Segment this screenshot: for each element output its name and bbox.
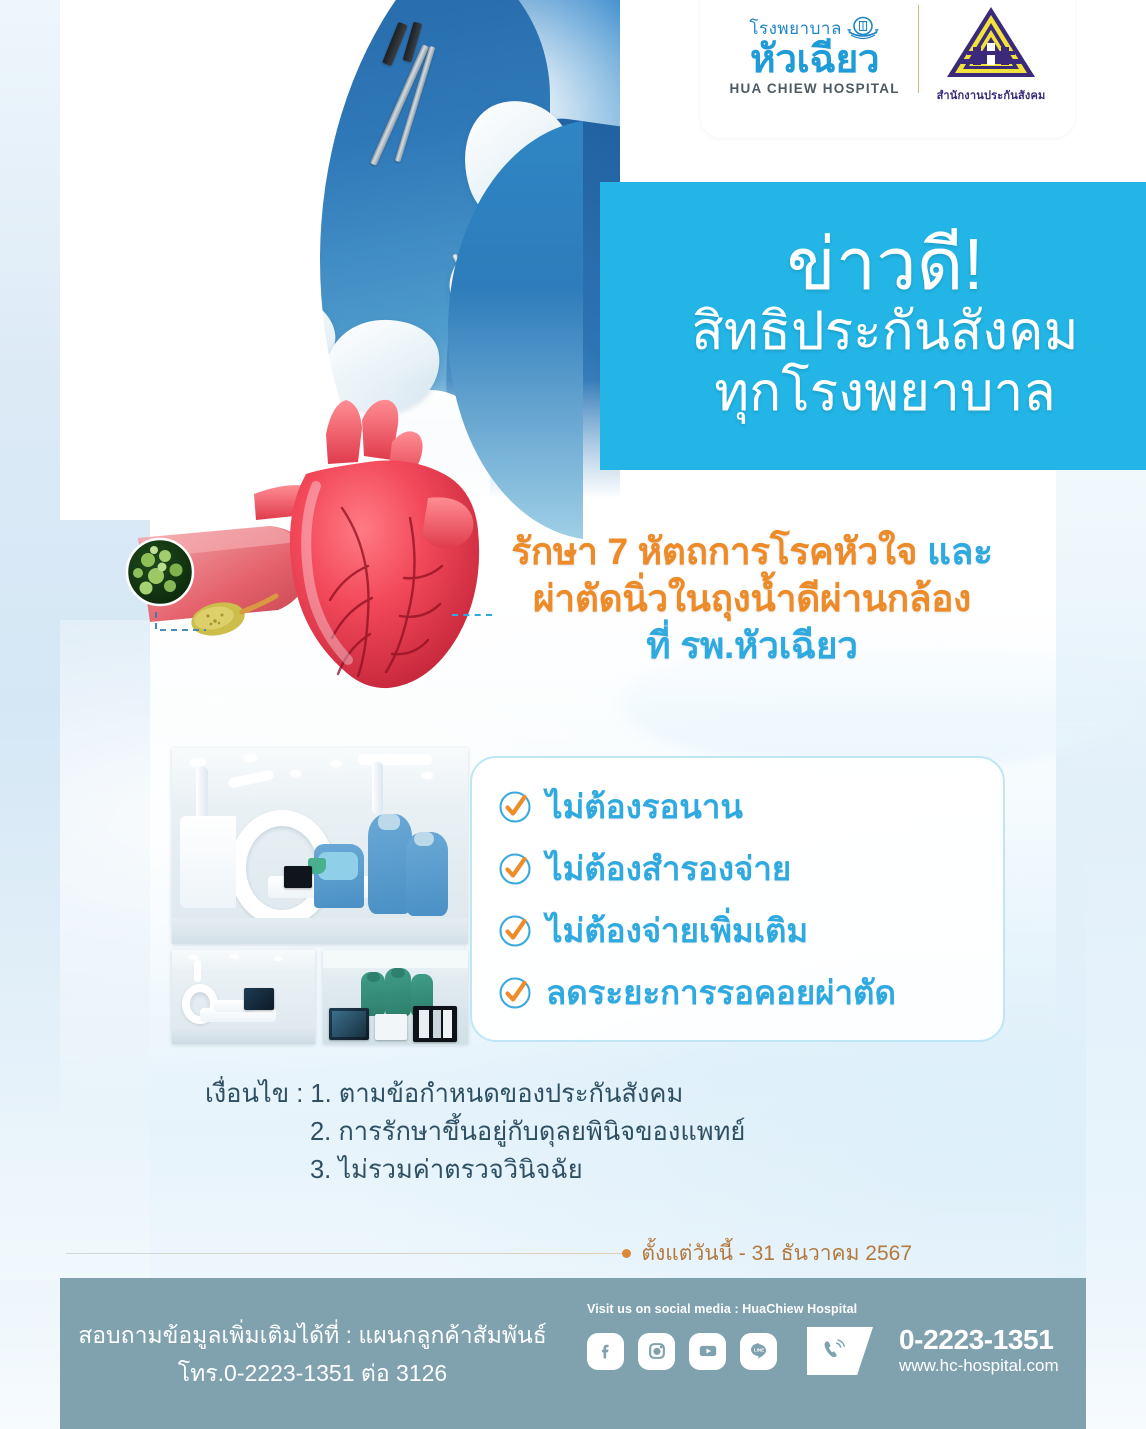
subhead-line1-orange: รักษา 7 หัตถการโรคหัวใจ [511,531,917,572]
sso-logo: สำนักงานประกันสังคม [937,0,1046,104]
hospital-logo: โรงพยาบาล หัวเฉียว HUA CHIEW HOSPITAL [730,3,900,96]
check-circle-icon [498,976,532,1010]
condition-line-2: 2. การรักษาขึ้นอยู่กับดุลยพินิจของแพทย์ [205,1113,965,1151]
headline-line-3: ทุกโรงพยาบาล [624,362,1146,424]
subhead-line3: ที่ รพ.หัวเฉียว [452,622,1052,669]
angiography-suite-photo [172,950,315,1044]
promo-period-row: ตั้งแต่วันนี้ - 31 ธันวาคม 2567 [66,1236,1080,1270]
social-security-office-logo [943,3,1039,83]
cath-lab-procedure-photo [172,748,468,944]
line-icon[interactable]: LINE [740,1333,777,1370]
promotional-poster: ข่าวดี! สิทธิประกันสังคม ทุกโรงพยาบาล โร… [0,0,1146,1429]
anatomical-illustration [110,390,510,740]
condition-line-3: 3. ไม่รวมค่าตรวจวินิจฉัย [205,1151,965,1189]
sso-label: สำนักงานประกันสังคม [937,86,1046,104]
benefit-label: ไม่ต้องสำรองจ่าย [546,851,791,887]
instagram-icon[interactable] [638,1333,675,1370]
benefit-label: ลดระยะการรอคอยผ่าตัด [546,975,896,1011]
benefits-card: ไม่ต้องรอนาน ไม่ต้องสำรองจ่าย ไม่ต้องจ่า… [470,756,1005,1042]
benefit-label: ไม่ต้องจ่ายเพิ่มเติม [546,913,808,949]
footer-contact-line-2: โทร.0-2223-1351 ต่อ 3126 [60,1354,565,1392]
benefit-item: ไม่ต้องรอนาน [498,776,1003,838]
benefit-item: ไม่ต้องสำรองจ่าย [498,838,1003,900]
social-caption: Visit us on social media : HuaChiew Hosp… [587,1302,1086,1316]
logo-divider [918,5,919,93]
subhead-line1-blue: และ [927,531,993,572]
youtube-icon[interactable] [689,1333,726,1370]
check-circle-icon [498,852,532,886]
promo-period-rule [66,1253,622,1254]
footer-bar: สอบถามข้อมูลเพิ่มเติมได้ที่ : แผนกลูกค้า… [60,1278,1086,1429]
headline-line-2: สิทธิประกันสังคม [624,302,1146,362]
check-circle-icon [498,914,532,948]
condition-line-1: เงื่อนไข : 1. ตามข้อกำหนดของประกันสังคม [205,1075,965,1113]
promo-period-dot [622,1249,631,1258]
headline-line-1: ข่าวดี! [624,228,1146,302]
phone-call-icon[interactable] [807,1327,873,1375]
benefit-item: ไม่ต้องจ่ายเพิ่มเติม [498,900,1003,962]
headline-group: ข่าวดี! สิทธิประกันสังคม ทุกโรงพยาบาล [600,182,1146,470]
phone-number[interactable]: 0-2223-1351 [899,1325,1059,1355]
hospital-name-english: HUA CHIEW HOSPITAL [730,81,900,96]
footer-contact-line-1: สอบถามข้อมูลเพิ่มเติมได้ที่ : แผนกลูกค้า… [60,1316,565,1354]
hospital-name-main: หัวเฉียว [750,40,879,80]
social-row: LINE 0-2223-1351 www.hc-hospital.com [587,1325,1086,1377]
check-circle-icon [498,790,532,824]
photo-collage [172,748,468,1044]
operating-room-team-photo [323,950,468,1044]
benefit-item: ลดระยะการรอคอยผ่าตัด [498,962,1003,1024]
footer-social-block: Visit us on social media : HuaChiew Hosp… [565,1278,1086,1377]
subheading-group: รักษา 7 หัตถการโรคหัวใจ และ ผ่าตัดนิ่วใน… [452,528,1052,669]
facebook-icon[interactable] [587,1333,624,1370]
promo-period-text: ตั้งแต่วันนี้ - 31 ธันวาคม 2567 [641,1237,1080,1270]
website-url[interactable]: www.hc-hospital.com [899,1355,1059,1377]
subhead-line2: ผ่าตัดนิ่วในถุงน้ำดีผ่านกล้อง [452,575,1052,622]
benefit-label: ไม่ต้องรอนาน [546,789,743,825]
svg-text:LINE: LINE [753,1347,763,1352]
footer-contact-block: สอบถามข้อมูลเพิ่มเติมได้ที่ : แผนกลูกค้า… [60,1278,565,1392]
phone-contact-block: 0-2223-1351 www.hc-hospital.com [899,1325,1059,1377]
conditions-group: เงื่อนไข : 1. ตามข้อกำหนดของประกันสังคม … [205,1075,965,1189]
logo-plate: โรงพยาบาล หัวเฉียว HUA CHIEW HOSPITAL [700,0,1075,138]
